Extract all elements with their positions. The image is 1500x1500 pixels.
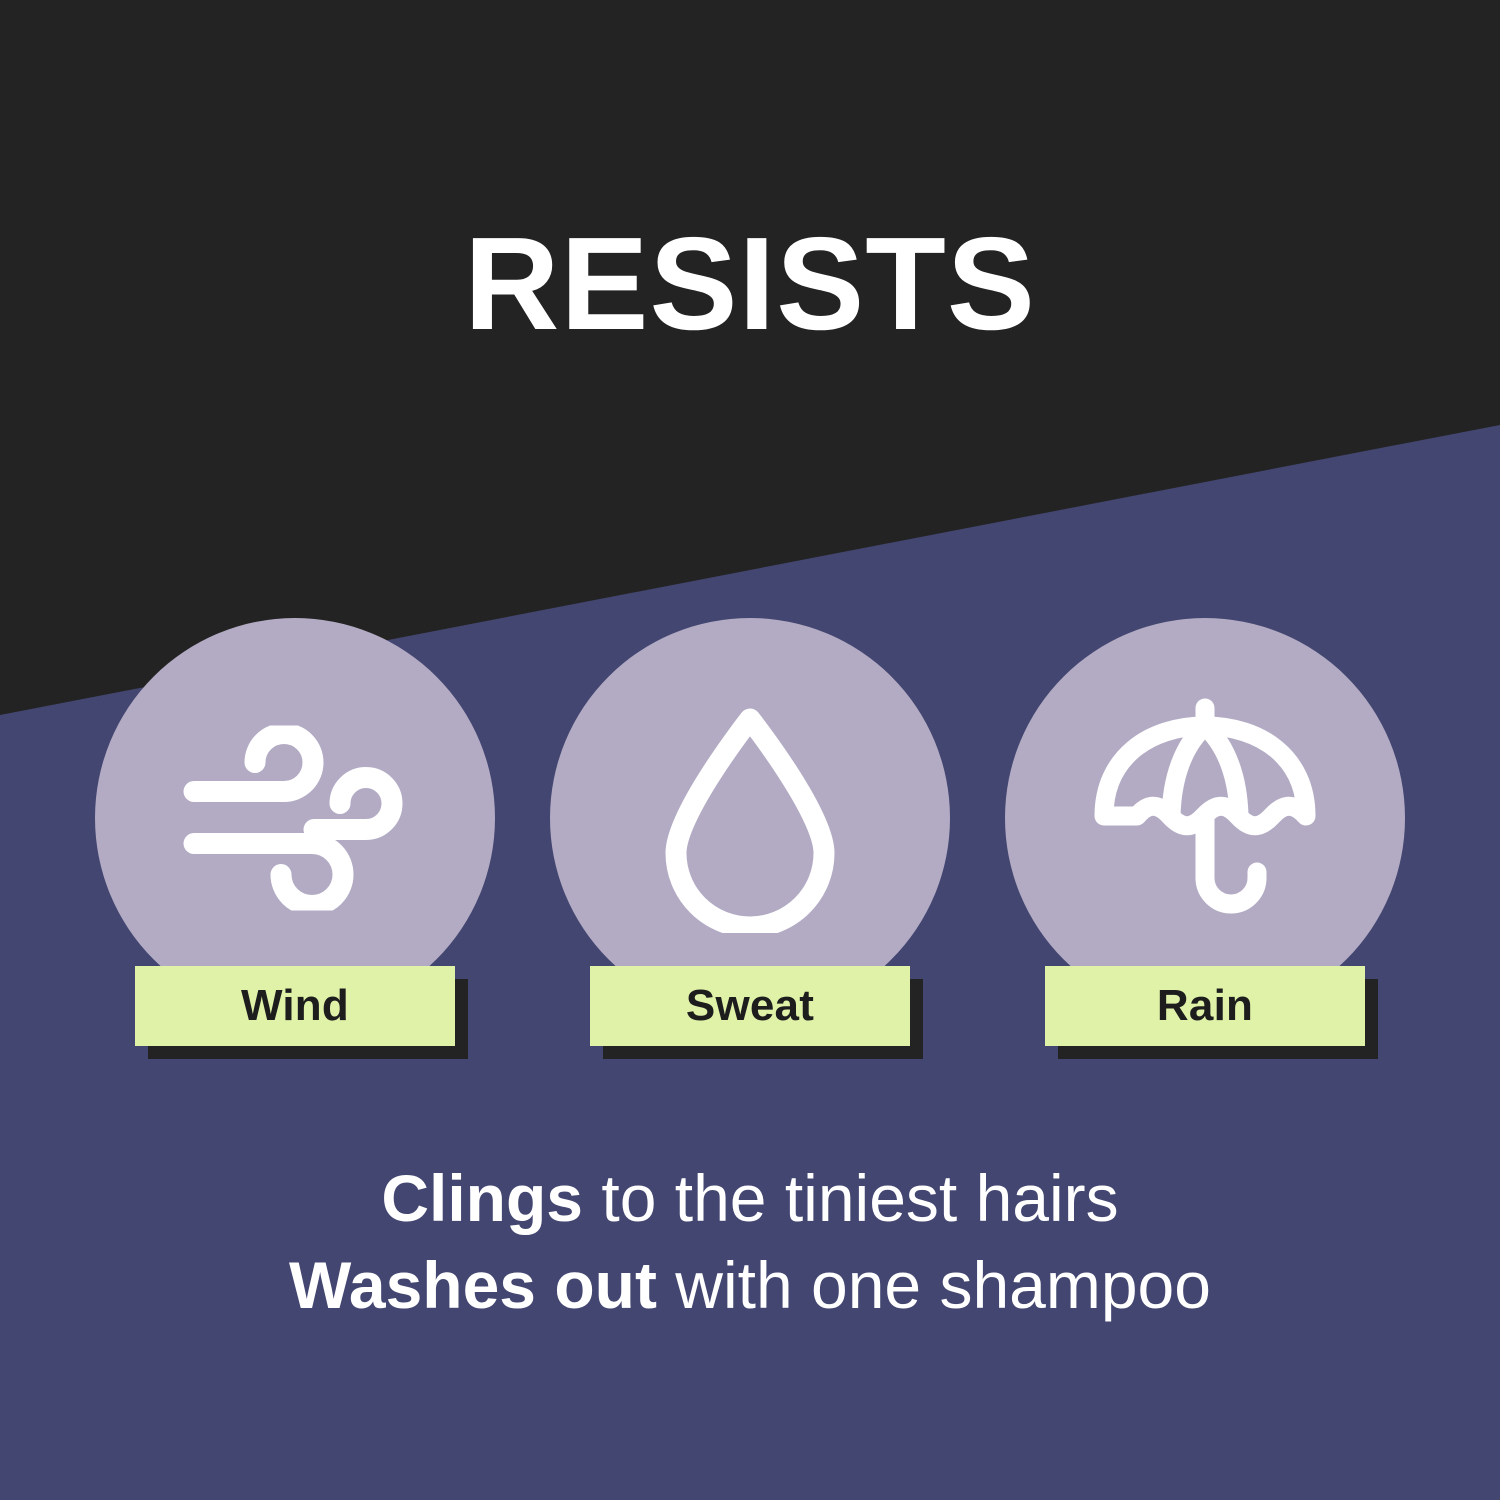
tagline-line-1: Clings to the tiniest hairs xyxy=(0,1155,1500,1242)
chip-surface: Wind xyxy=(135,966,455,1046)
feature-chip-sweat[interactable]: Sweat xyxy=(590,966,910,1046)
tagline-1-bold: Clings xyxy=(381,1161,583,1235)
feature-chip-wind[interactable]: Wind xyxy=(135,966,455,1046)
wind-icon xyxy=(180,726,410,911)
feature-item-sweat: Sweat xyxy=(550,618,950,1078)
feature-item-rain: Rain xyxy=(1005,618,1405,1078)
tagline-block: Clings to the tiniest hairs Washes out w… xyxy=(0,1155,1500,1329)
icon-disc xyxy=(1005,618,1405,1018)
water-droplet-icon xyxy=(655,703,845,933)
tagline-2-rest: with one shampoo xyxy=(657,1248,1211,1322)
chip-label: Sweat xyxy=(686,984,814,1028)
feature-chip-rain[interactable]: Rain xyxy=(1045,966,1365,1046)
chip-surface: Rain xyxy=(1045,966,1365,1046)
page-title: RESISTS xyxy=(0,218,1500,350)
chip-surface: Sweat xyxy=(590,966,910,1046)
tagline-line-2: Washes out with one shampoo xyxy=(0,1242,1500,1329)
chip-label: Rain xyxy=(1157,984,1253,1028)
icon-disc xyxy=(550,618,950,1018)
chip-label: Wind xyxy=(241,984,349,1028)
umbrella-icon xyxy=(1090,698,1320,938)
tagline-2-bold: Washes out xyxy=(289,1248,657,1322)
feature-row: Wind Sweat xyxy=(0,618,1500,1078)
feature-item-wind: Wind xyxy=(95,618,495,1078)
tagline-1-rest: to the tiniest hairs xyxy=(583,1161,1119,1235)
promo-poster: RESISTS Wind xyxy=(0,0,1500,1500)
icon-disc xyxy=(95,618,495,1018)
